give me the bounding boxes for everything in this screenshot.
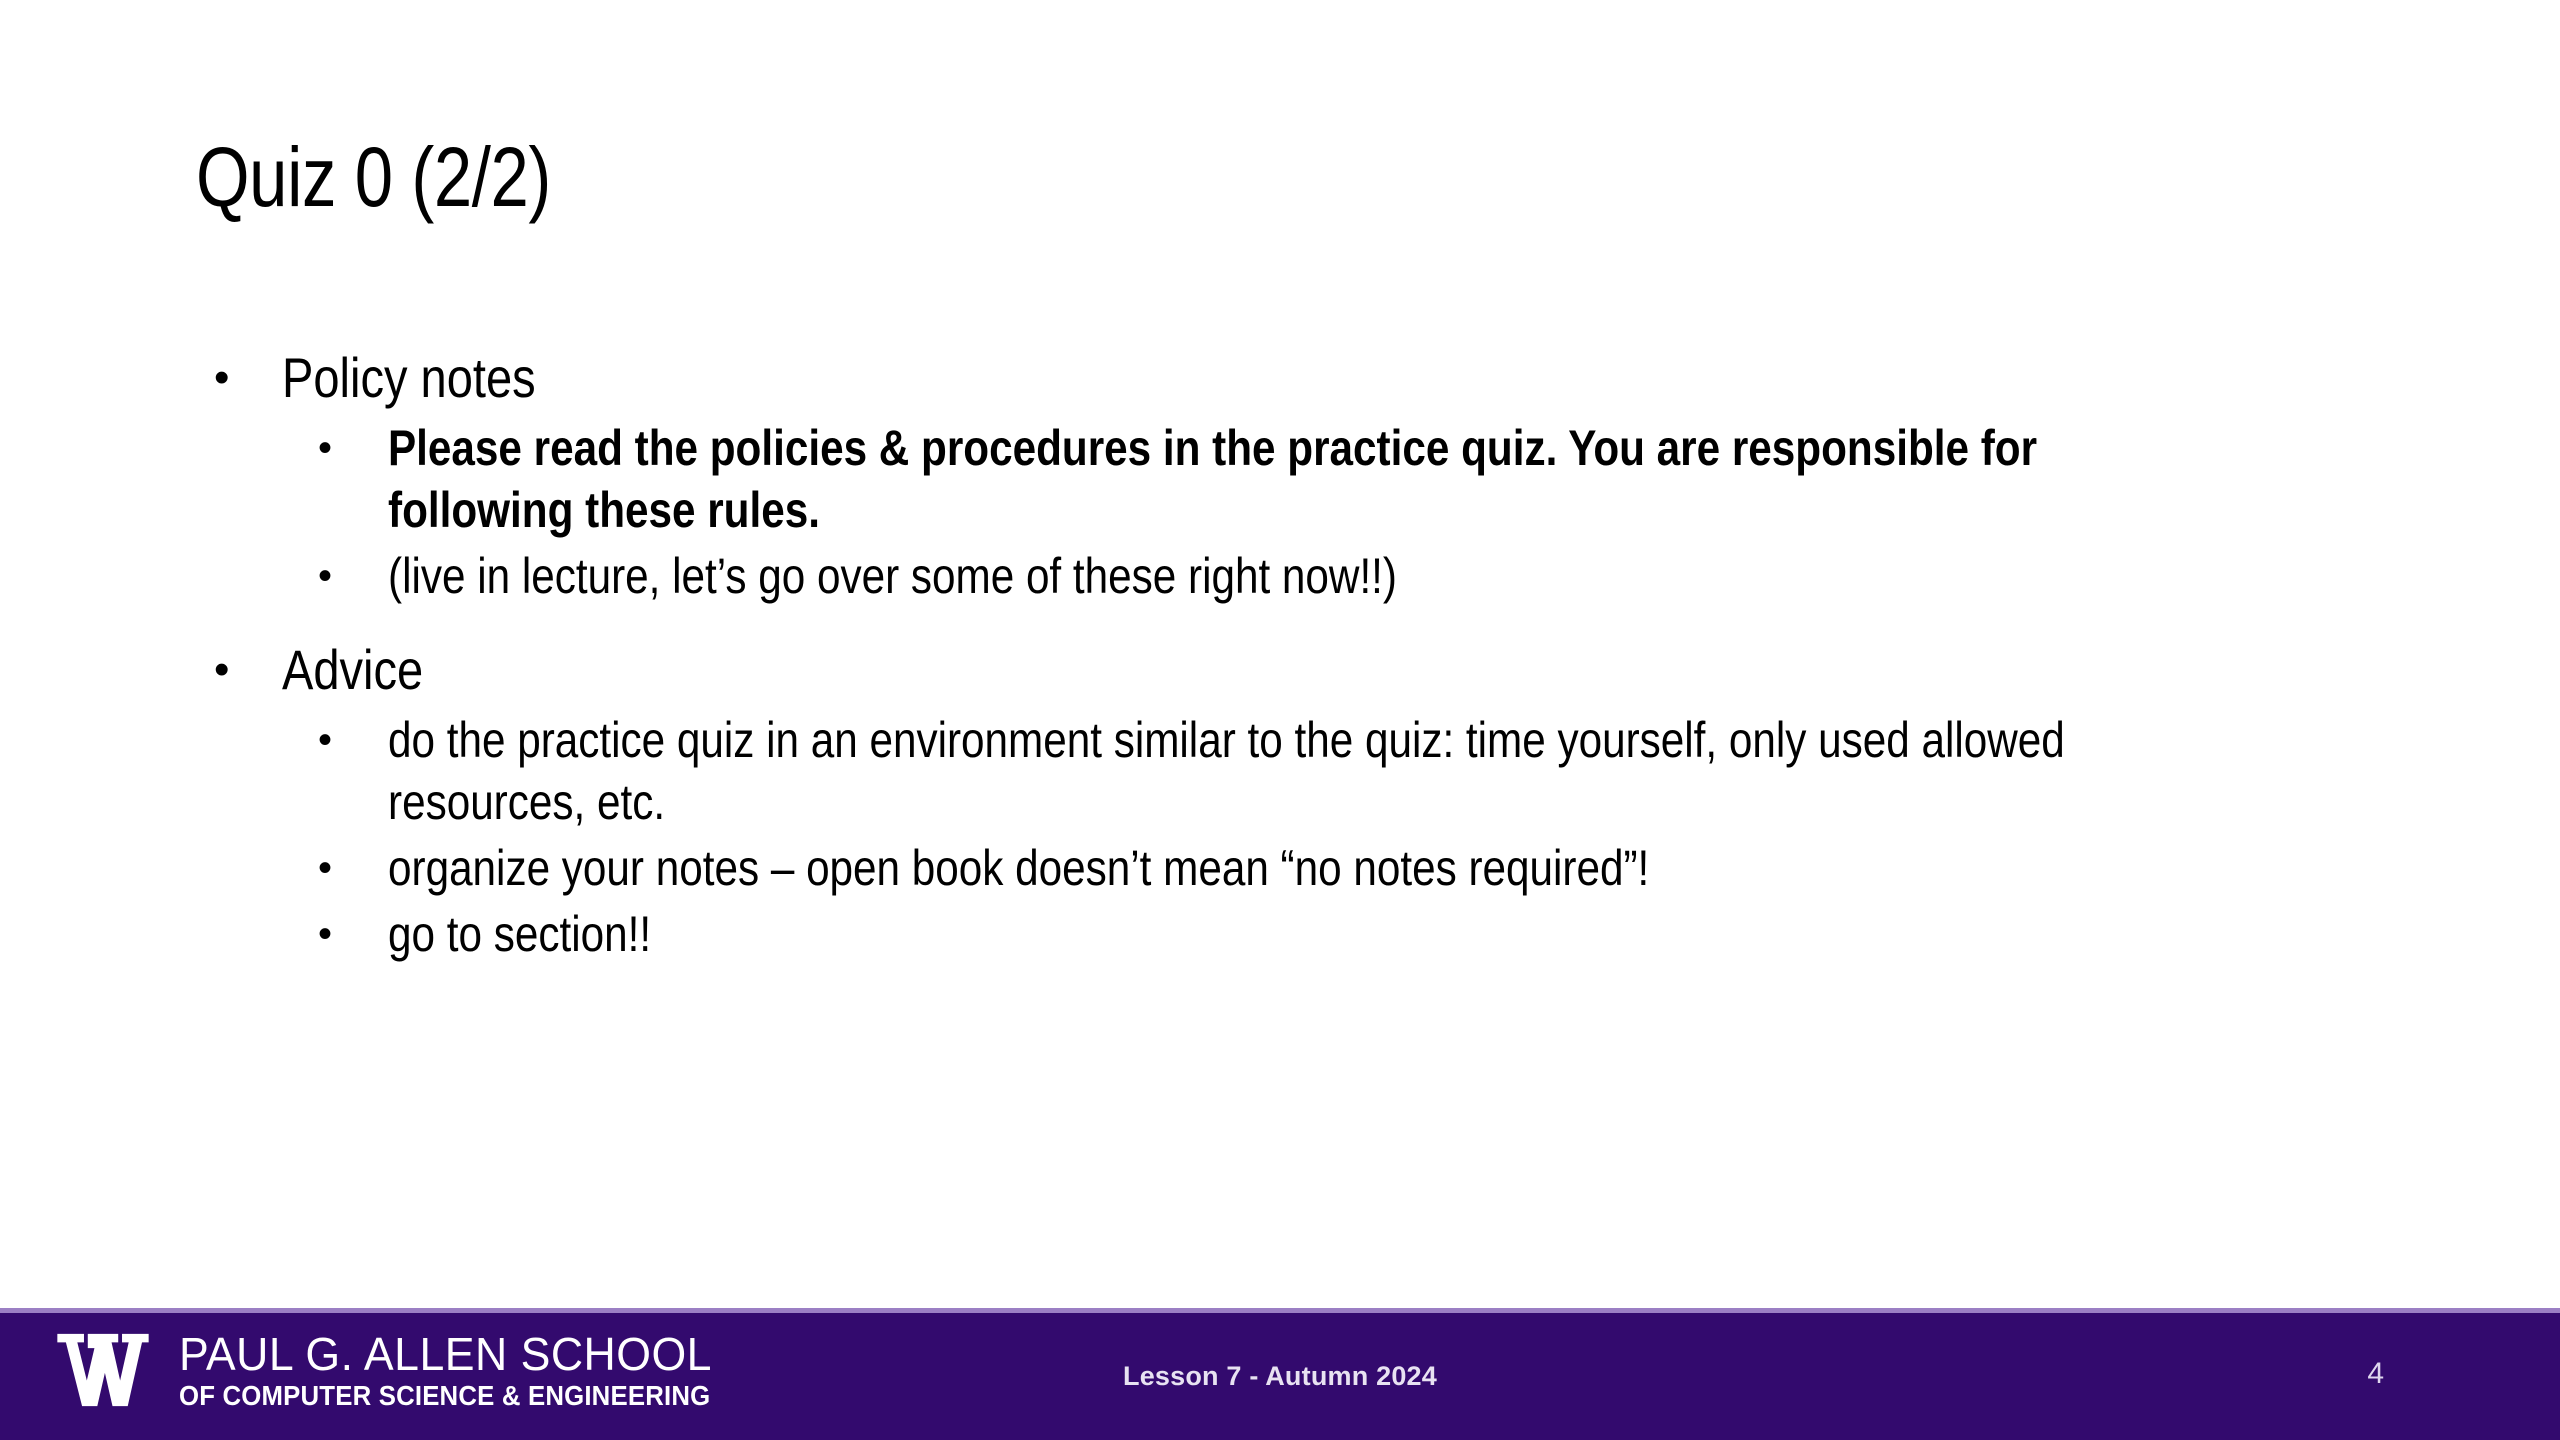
bullet-level2-label: (live in lecture, let’s go over some of … <box>388 545 2169 607</box>
bullet-glyph-icon: • <box>196 637 282 703</box>
bullet-level2-label: go to section!! <box>388 903 2169 965</box>
bullet-level1-label: Policy notes <box>282 345 2142 411</box>
bullet-level2-label: organize your notes – open book doesn’t … <box>388 837 2169 899</box>
bullet-glyph-icon: • <box>196 837 388 899</box>
bullet-glyph-icon: • <box>196 709 388 771</box>
bullet-glyph-icon: • <box>196 417 388 479</box>
slide-footer: PAUL G. ALLEN SCHOOL OF COMPUTER SCIENCE… <box>0 1308 2560 1440</box>
bullet-level1-advice: • Advice <box>196 637 2496 703</box>
bullet-level2-go-to-section: • go to section!! <box>196 903 2496 965</box>
bullet-glyph-icon: • <box>196 545 388 607</box>
slide-body: • Policy notes • Please read the policie… <box>196 345 2496 969</box>
bullet-level2-practice-environment: • do the practice quiz in an environment… <box>196 709 2496 833</box>
footer-lesson-label: Lesson 7 - Autumn 2024 <box>0 1361 2560 1392</box>
bullet-level1-label: Advice <box>282 637 2142 703</box>
page-title: Quiz 0 (2/2) <box>196 135 551 219</box>
bullet-level2-label: Please read the policies & procedures in… <box>388 417 2169 541</box>
footer-page-number: 4 <box>2367 1357 2384 1391</box>
bullet-level2-organize-notes: • organize your notes – open book doesn’… <box>196 837 2496 899</box>
section-spacer <box>196 611 2496 637</box>
bullet-level2-read-policies: • Please read the policies & procedures … <box>196 417 2496 541</box>
bullet-level2-label: do the practice quiz in an environment s… <box>388 709 2169 833</box>
bullet-glyph-icon: • <box>196 345 282 411</box>
bullet-level2-live-in-lecture: • (live in lecture, let’s go over some o… <box>196 545 2496 607</box>
bullet-level1-policy-notes: • Policy notes <box>196 345 2496 411</box>
bullet-glyph-icon: • <box>196 903 388 965</box>
slide: Quiz 0 (2/2) • Policy notes • Please rea… <box>0 0 2560 1440</box>
